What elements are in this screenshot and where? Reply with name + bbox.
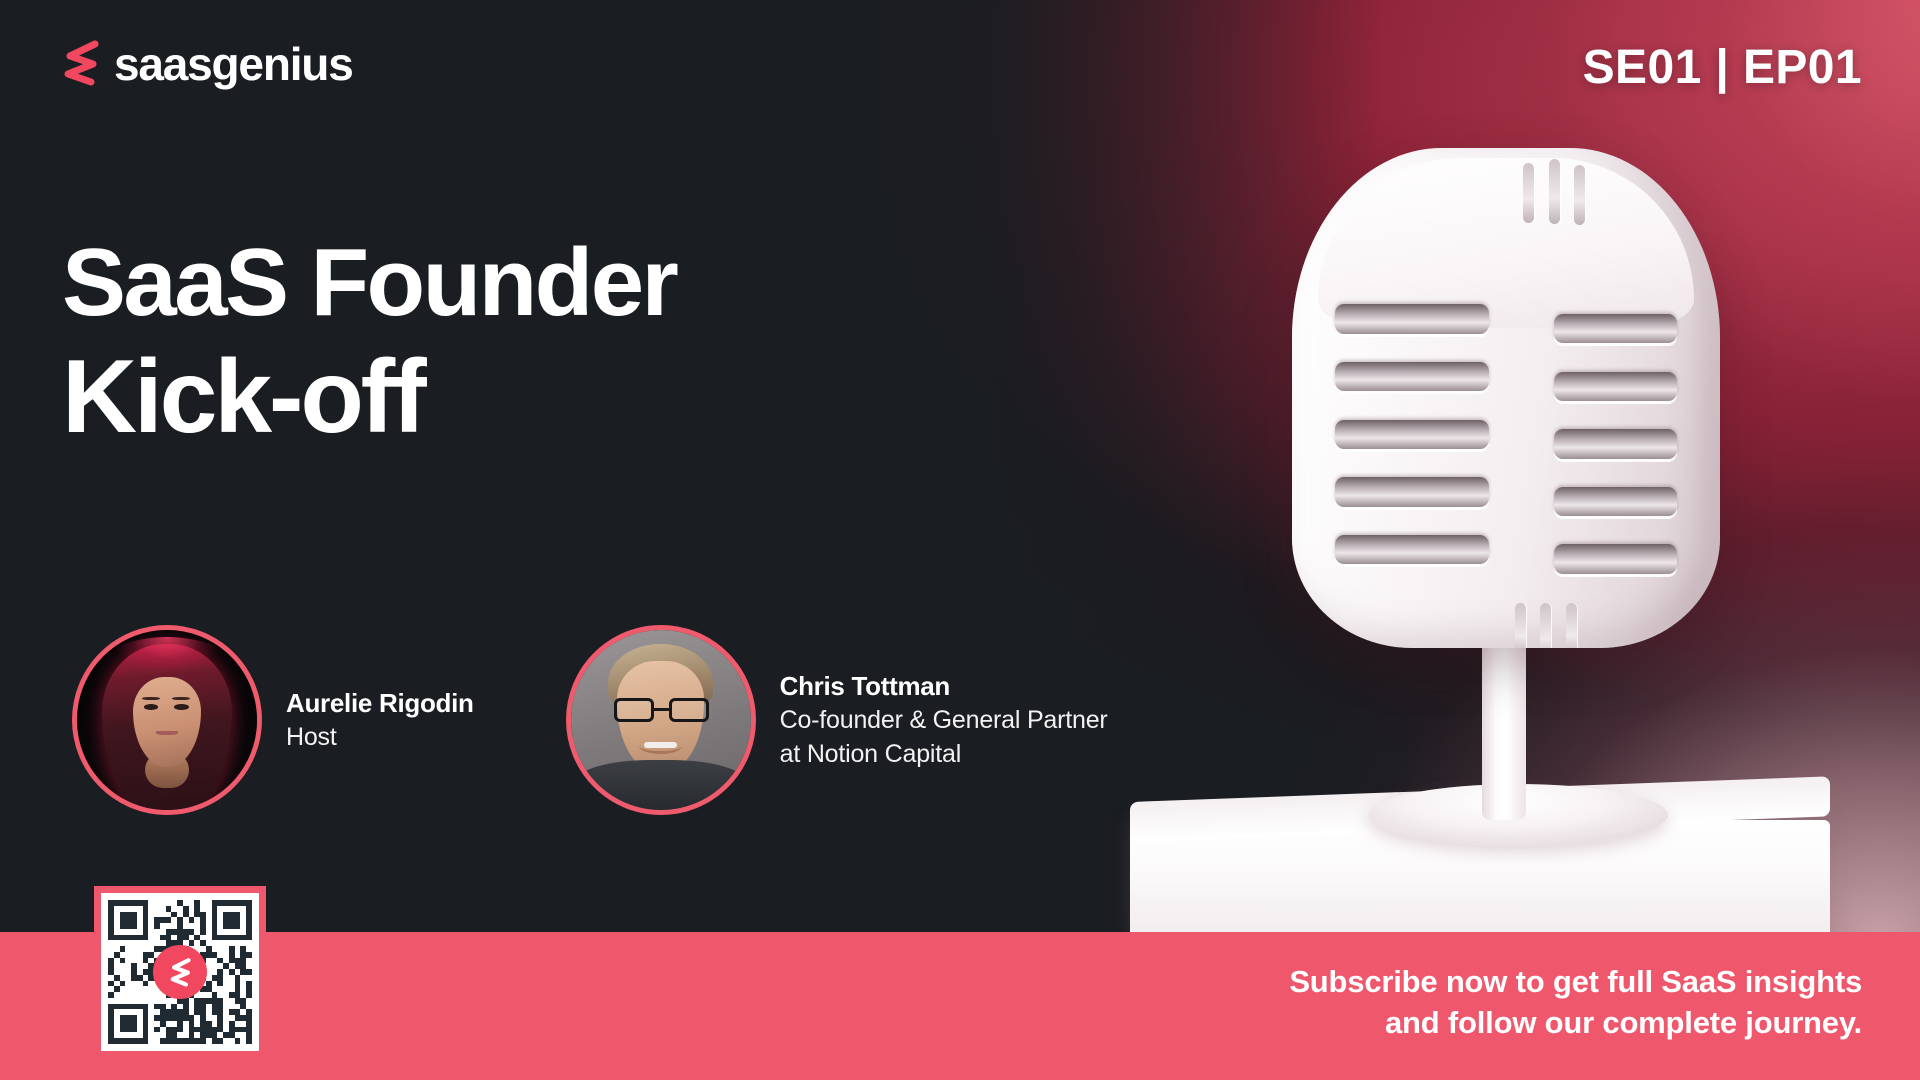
- speaker-role-line-1: Host: [286, 721, 474, 753]
- banner-line-1: Subscribe now to get full SaaS insights: [1289, 962, 1862, 1003]
- avatar-chris-tottman: [571, 630, 751, 810]
- speaker-info: Chris Tottman Co-founder & General Partn…: [780, 670, 1108, 771]
- speaker-aurelie-rigodin: Aurelie Rigodin Host: [72, 625, 474, 815]
- speaker-chris-tottman: Chris Tottman Co-founder & General Partn…: [566, 625, 1108, 815]
- brand-logo[interactable]: saasgenius: [60, 38, 353, 90]
- speaker-name: Chris Tottman: [780, 670, 1108, 703]
- microphone-head: [1292, 148, 1720, 648]
- qr-code-icon[interactable]: [94, 886, 266, 1058]
- speaker-name: Aurelie Rigodin: [286, 687, 474, 720]
- avatar: [72, 625, 262, 815]
- speaker-list: Aurelie Rigodin Host: [72, 625, 1108, 815]
- title-line-2: Kick-off: [62, 342, 676, 452]
- podcast-episode-card: saasgenius SE01 | EP01 SaaS Founder Kick…: [0, 0, 1920, 1080]
- retro-microphone-icon: [1250, 148, 1770, 938]
- speaker-role-line-1: Co-founder & General Partner: [780, 704, 1108, 736]
- title-line-1: SaaS Founder: [62, 232, 676, 334]
- saasgenius-zigzag-s-icon: [60, 38, 100, 90]
- speaker-role-line-2: at Notion Capital: [780, 738, 1108, 770]
- episode-badge: SE01 | EP01: [1583, 40, 1862, 95]
- avatar: [566, 625, 756, 815]
- saasgenius-zigzag-s-icon: [153, 945, 207, 999]
- subscribe-banner-text: Subscribe now to get full SaaS insights …: [1289, 962, 1862, 1044]
- banner-line-2: and follow our complete journey.: [1289, 1003, 1862, 1044]
- microphone-grille: [1335, 298, 1677, 618]
- subscribe-banner: Subscribe now to get full SaaS insights …: [0, 932, 1920, 1080]
- page-title: SaaS Founder Kick-off: [62, 232, 676, 452]
- avatar-aurelie-rigodin: [77, 630, 257, 810]
- speaker-info: Aurelie Rigodin Host: [286, 687, 474, 754]
- brand-name: saasgenius: [114, 41, 353, 87]
